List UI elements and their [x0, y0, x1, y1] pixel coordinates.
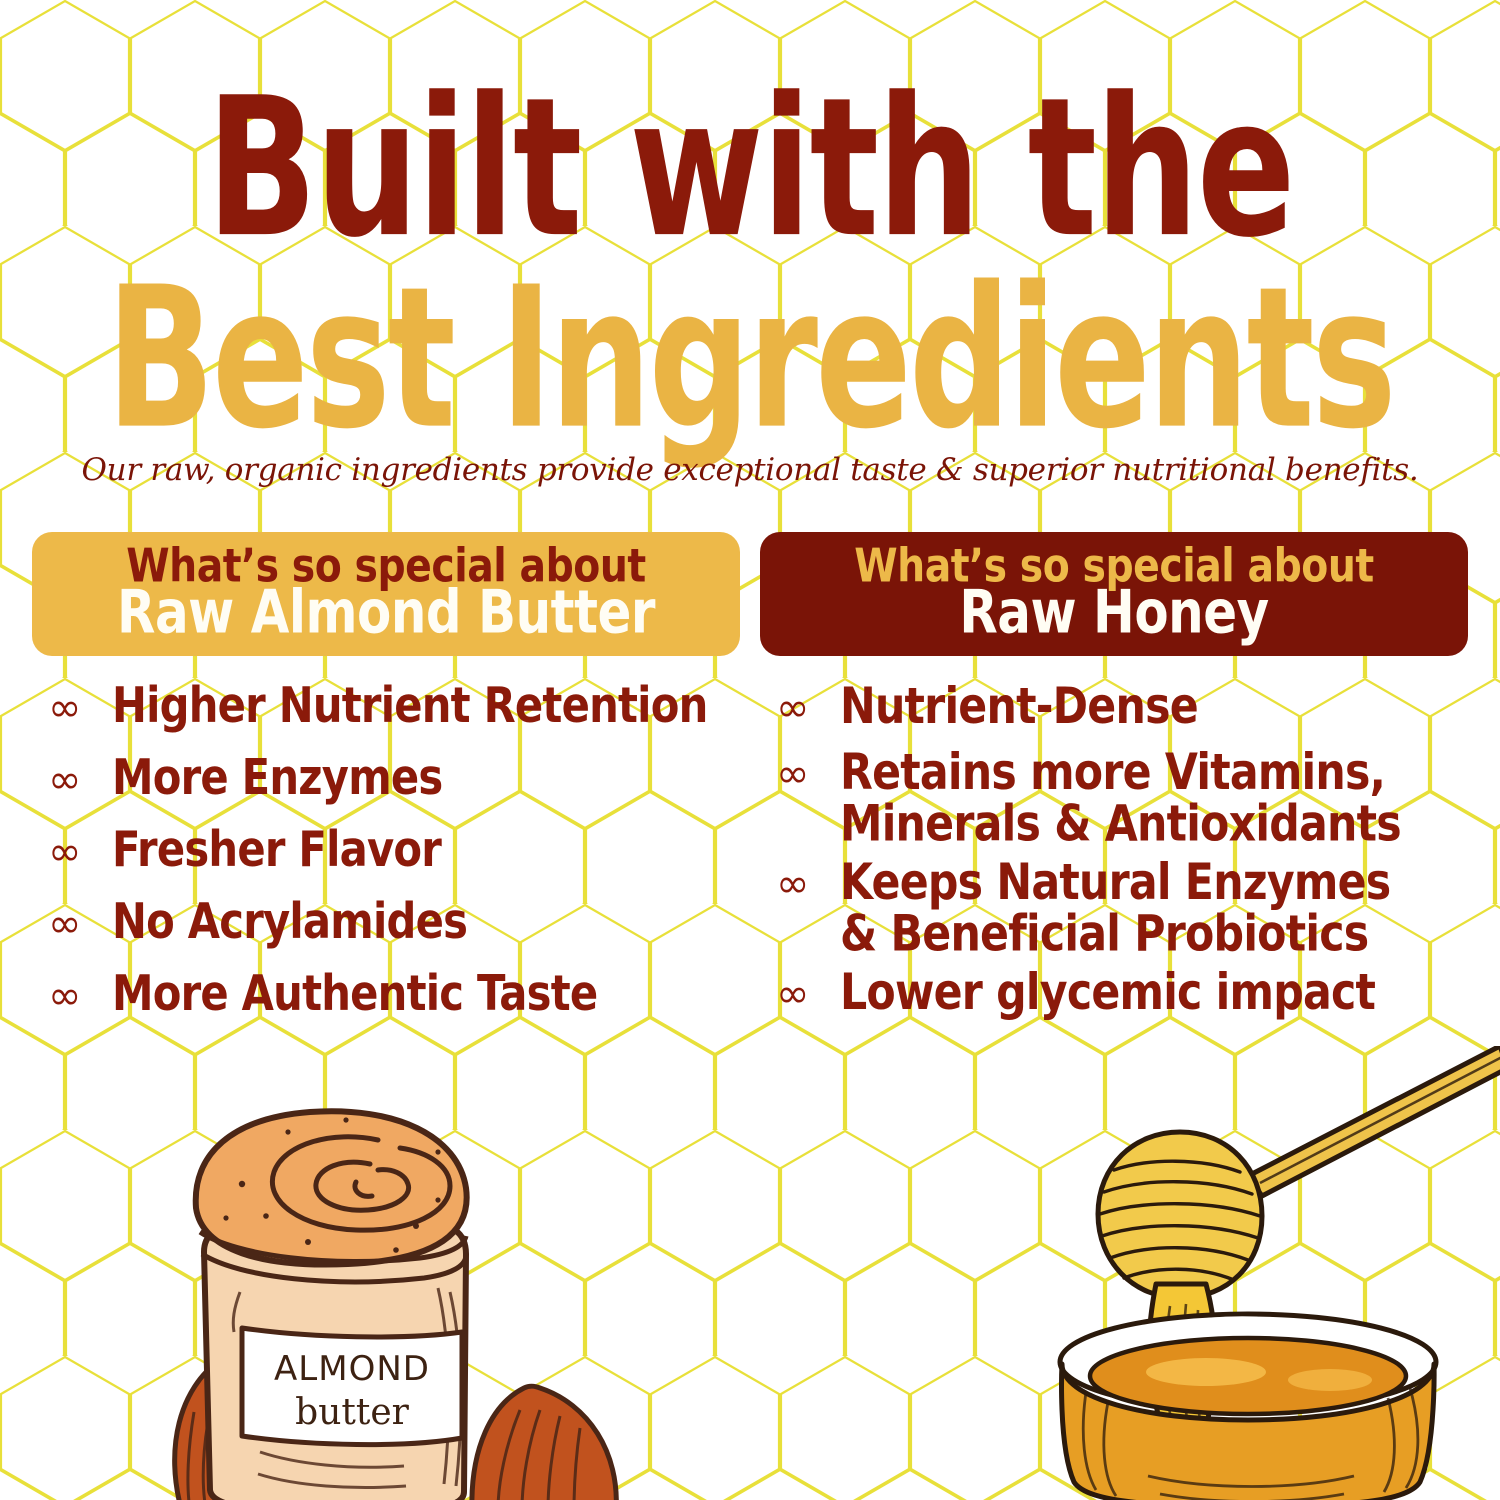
bullet-list-almond-butter: ∞ Higher Nutrient Retention ∞ More Enzym… — [32, 682, 740, 1016]
list-item-label: Keeps Natural Enzymes & Beneficial Probi… — [840, 858, 1390, 960]
banner-honey-bottom-label: Raw Honey — [782, 584, 1446, 644]
infinity-bullet-icon: ∞ — [776, 858, 840, 904]
column-raw-honey: What’s so special about Raw Honey ∞ Nutr… — [760, 532, 1468, 1092]
headline-block: Built with the Best Ingredients — [0, 78, 1500, 409]
list-item-label: Nutrient-Dense — [840, 682, 1198, 733]
list-item: ∞ More Authentic Taste — [48, 970, 740, 1016]
list-item: ∞ Keeps Natural Enzymes & Beneficial Pro… — [776, 858, 1468, 948]
list-item: ∞ No Acrylamides — [48, 898, 740, 944]
list-item-line-2: & Beneficial Probiotics — [840, 909, 1390, 960]
list-item-label: More Authentic Taste — [112, 970, 597, 1020]
infinity-bullet-icon: ∞ — [776, 968, 840, 1014]
honey-jar-with-dipper-illustration — [948, 1046, 1500, 1500]
list-item: ∞ Lower glycemic impact — [776, 968, 1468, 1014]
list-item: ∞ Nutrient-Dense — [776, 682, 1468, 728]
infinity-bullet-icon: ∞ — [48, 970, 112, 1016]
honey-pool-highlight-2 — [1288, 1369, 1372, 1391]
list-item-label: Lower glycemic impact — [840, 968, 1375, 1019]
list-item-line-1: Lower glycemic impact — [840, 963, 1375, 1021]
list-item-label: More Enzymes — [112, 754, 442, 804]
infinity-bullet-icon: ∞ — [776, 682, 840, 728]
poster-root: Built with the Best Ingredients Our raw,… — [0, 0, 1500, 1500]
honey-pool-highlight — [1146, 1358, 1266, 1386]
list-item-line-2: Minerals & Antioxidants — [840, 799, 1401, 850]
list-item: ∞ Higher Nutrient Retention — [48, 682, 740, 728]
list-item-label: No Acrylamides — [112, 898, 467, 948]
infinity-bullet-icon: ∞ — [776, 748, 840, 794]
banner-almond-bottom-label: Raw Almond Butter — [54, 584, 718, 644]
infinity-bullet-icon: ∞ — [48, 682, 112, 728]
jar-label-line-2: butter — [295, 1392, 409, 1433]
bullet-list-raw-honey: ∞ Nutrient-Dense ∞ Retains more Vitamins… — [760, 682, 1468, 1014]
list-item-label: Retains more Vitamins, Minerals & Antiox… — [840, 748, 1401, 850]
infinity-bullet-icon: ∞ — [48, 754, 112, 800]
infinity-bullet-icon: ∞ — [48, 826, 112, 872]
column-almond-butter: What’s so special about Raw Almond Butte… — [32, 532, 740, 1092]
almond-right-icon — [472, 1386, 616, 1500]
list-item: ∞ More Enzymes — [48, 754, 740, 800]
list-item-label: Higher Nutrient Retention — [112, 682, 708, 732]
page-title-line-1: Built with the — [23, 78, 1478, 260]
list-item-line-1: Retains more Vitamins, — [840, 743, 1385, 801]
page-subtitle: Our raw, organic ingredients provide exc… — [0, 452, 1500, 488]
almond-butter-jar-illustration: ALMOND butter — [120, 1092, 680, 1500]
feature-columns: What’s so special about Raw Almond Butte… — [0, 532, 1500, 1092]
list-item: ∞ Fresher Flavor — [48, 826, 740, 872]
almond-butter-surface — [196, 1111, 467, 1264]
list-item-line-1: Nutrient-Dense — [840, 677, 1198, 735]
list-item-label: Fresher Flavor — [112, 826, 441, 876]
banner-raw-honey: What’s so special about Raw Honey — [760, 532, 1468, 656]
list-item-line-1: Keeps Natural Enzymes — [840, 853, 1390, 911]
page-title-line-2: Best Ingredients — [38, 267, 1463, 452]
jar-label-line-1: ALMOND — [274, 1349, 430, 1389]
banner-almond-butter: What’s so special about Raw Almond Butte… — [32, 532, 740, 656]
list-item: ∞ Retains more Vitamins, Minerals & Anti… — [776, 748, 1468, 838]
infinity-bullet-icon: ∞ — [48, 898, 112, 944]
honey-dipper-head — [1098, 1132, 1262, 1298]
